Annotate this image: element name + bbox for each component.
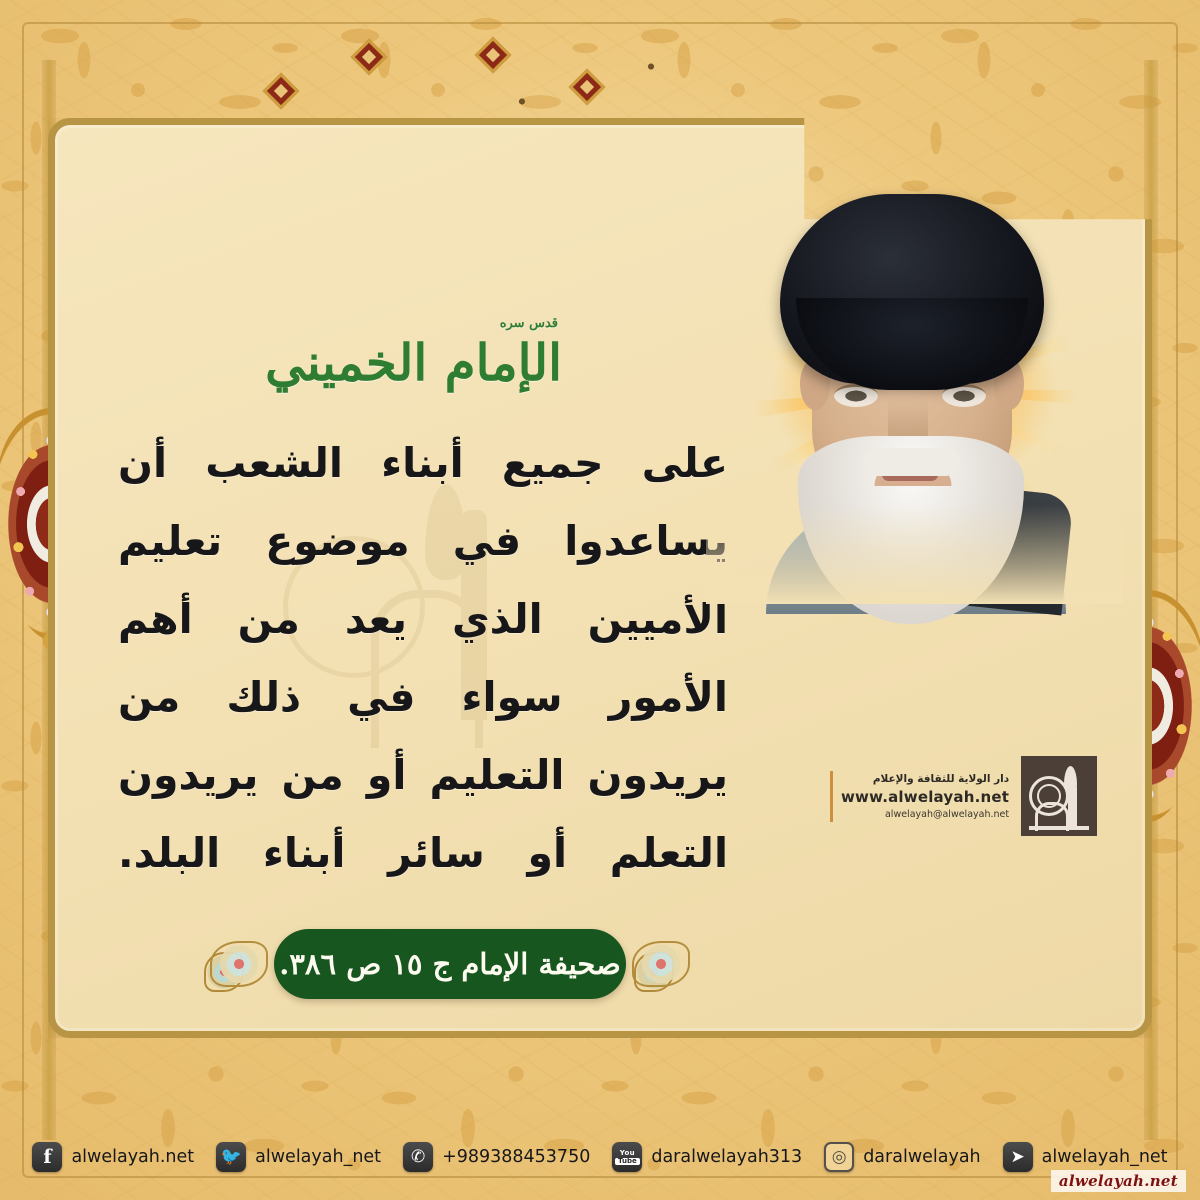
facebook-icon[interactable]: f <box>32 1142 62 1172</box>
source-badge-group: صحيفة الإمام ج ١٥ ص ٣٨٦. <box>200 925 700 1003</box>
page-title-calligraphy: قدس سره الإمام الخميني <box>270 322 562 410</box>
twitter-icon[interactable]: 🐦 <box>216 1142 246 1172</box>
social-label-instagram: daralwelayah <box>863 1147 980 1167</box>
youtube-icon-top: You <box>620 1150 635 1157</box>
logo-base-bar <box>1029 826 1089 830</box>
organization-logo-block: دار الولاية للثقافة والإعلام www.alwelay… <box>830 742 1060 850</box>
site-watermark-tag: alwelayah.net <box>1051 1170 1186 1192</box>
social-label-facebook: alwelayah.net <box>71 1147 194 1167</box>
poster-canvas: قدس سره الإمام الخميني على جميع أبناء ال… <box>0 0 1200 1200</box>
quote-text: على جميع أبناء الشعب أن يساعدوا في موضوع… <box>118 424 728 892</box>
instagram-icon[interactable]: ◎ <box>824 1142 854 1172</box>
telegram-icon[interactable]: ➤ <box>1003 1142 1033 1172</box>
organization-logo-mark-icon <box>1021 756 1097 836</box>
social-item-instagram[interactable]: ◎ daralwelayah <box>824 1142 980 1172</box>
youtube-icon-bottom: Tube <box>615 1158 640 1165</box>
social-label-whatsapp: +989388453750 <box>442 1147 590 1167</box>
logo-pen <box>1068 784 1077 828</box>
title-superscript: قدس سره <box>500 316 558 331</box>
title-text: الإمام الخميني <box>265 333 562 392</box>
social-item-twitter[interactable]: 🐦 alwelayah_net <box>216 1142 381 1172</box>
badge-ornament-left <box>200 931 278 997</box>
organization-name: دار الولاية للثقافة والإعلام <box>841 771 1009 787</box>
social-label-twitter: alwelayah_net <box>255 1147 381 1167</box>
organization-logo-text: دار الولاية للثقافة والإعلام www.alwelay… <box>830 771 1009 822</box>
organization-email[interactable]: alwelayah@alwelayah.net <box>841 807 1009 822</box>
social-label-youtube: daralwelayah313 <box>651 1147 802 1167</box>
social-item-telegram[interactable]: ➤ alwelayah_net <box>1003 1142 1168 1172</box>
youtube-icon[interactable]: You Tube <box>612 1142 642 1172</box>
social-item-facebook[interactable]: f alwelayah.net <box>32 1142 194 1172</box>
badge-ornament-right <box>622 931 700 997</box>
social-label-telegram: alwelayah_net <box>1042 1147 1168 1167</box>
portrait-imam-khomeini <box>706 152 1122 604</box>
source-badge: صحيفة الإمام ج ١٥ ص ٣٨٦. <box>274 929 626 999</box>
organization-website[interactable]: www.alwelayah.net <box>841 787 1009 807</box>
whatsapp-icon[interactable]: ✆ <box>403 1142 433 1172</box>
portrait-bottom-fade <box>706 152 1122 604</box>
social-links-bar: f alwelayah.net 🐦 alwelayah_net ✆ +98938… <box>0 1114 1200 1200</box>
social-item-whatsapp[interactable]: ✆ +989388453750 <box>403 1142 590 1172</box>
social-item-youtube[interactable]: You Tube daralwelayah313 <box>612 1142 802 1172</box>
